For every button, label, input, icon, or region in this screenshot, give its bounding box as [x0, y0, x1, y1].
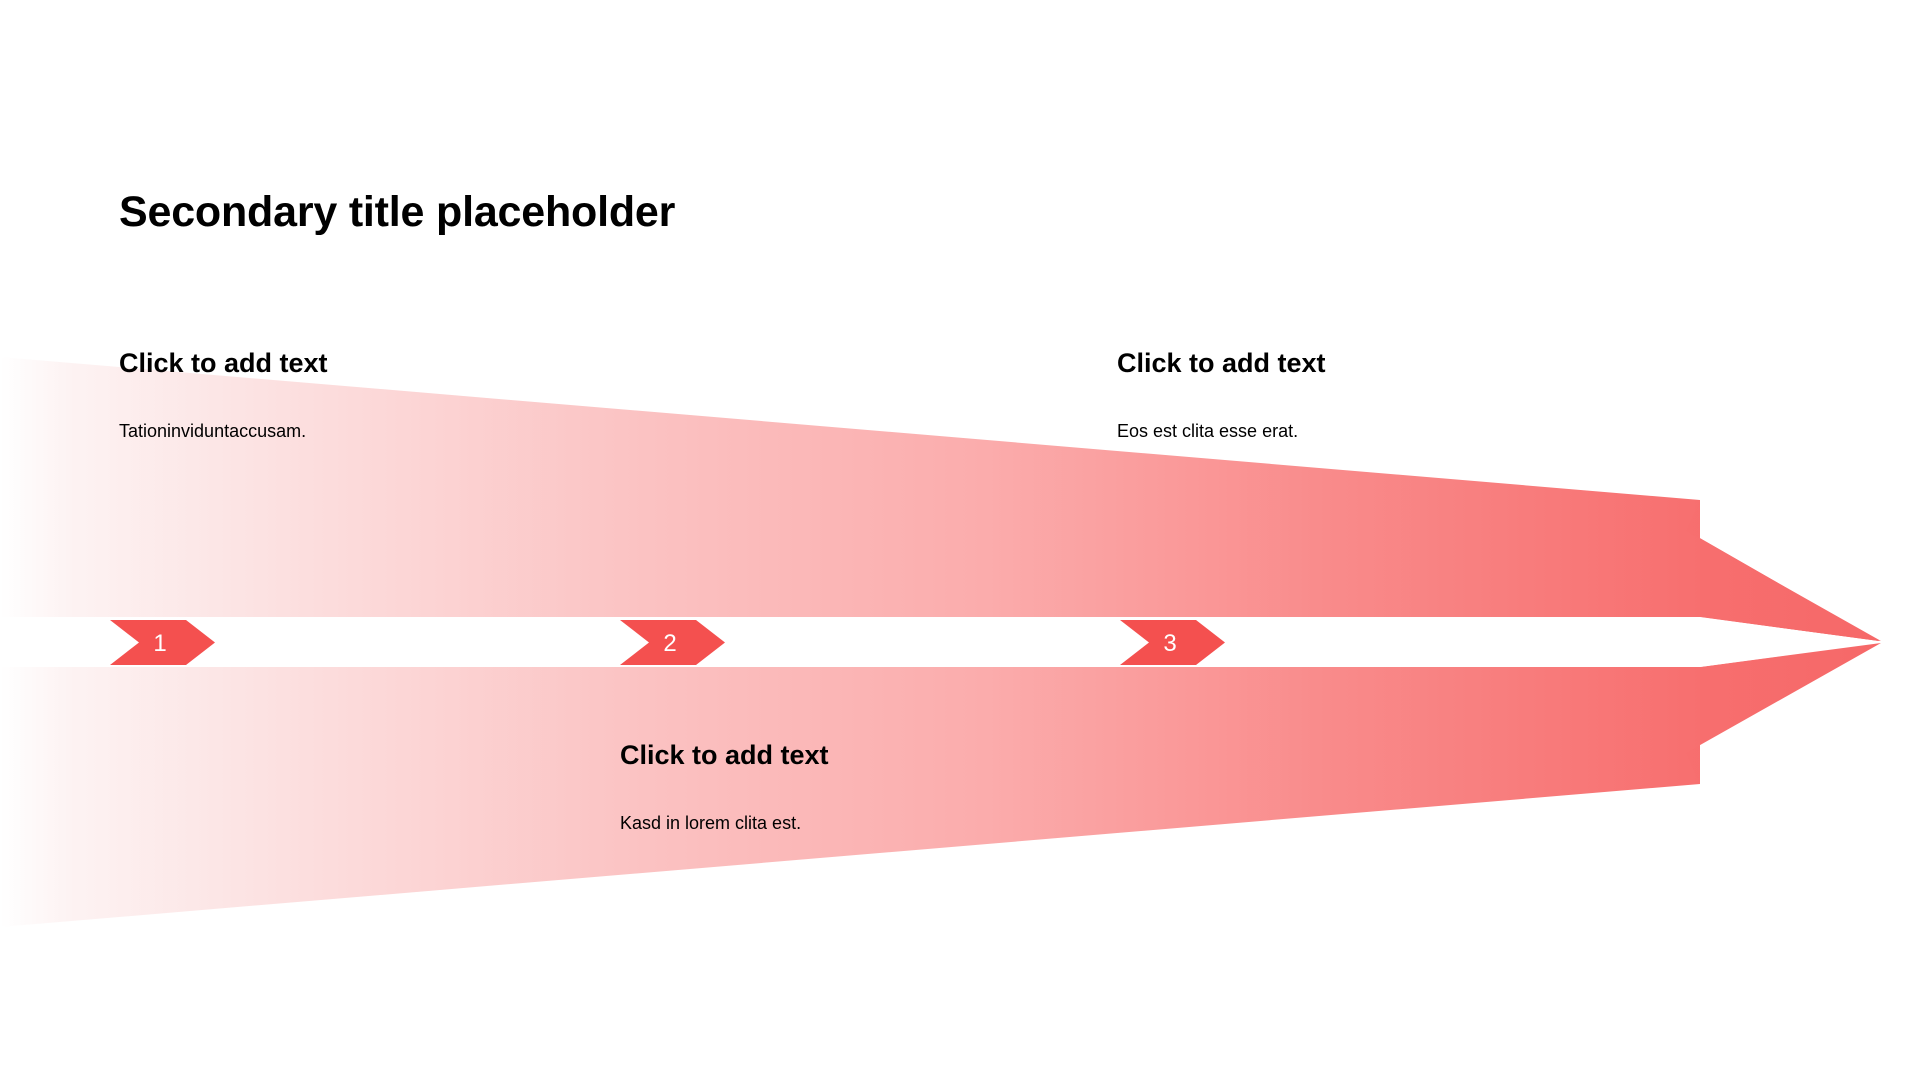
callout-top-right: Click to add text Eos est clita esse era…: [1117, 348, 1326, 443]
callout-top-left-body[interactable]: Tationinviduntaccusam.: [119, 420, 328, 443]
callout-top-left: Click to add text Tationinviduntaccusam.: [119, 348, 328, 443]
callout-bottom-center-body[interactable]: Kasd in lorem clita est.: [620, 812, 829, 835]
arrowhead-upper-barb: [1691, 500, 1879, 641]
step-number-3-label: 3: [1140, 632, 1200, 656]
arrowhead-upper-triangle: [1686, 500, 1879, 641]
callout-top-right-body[interactable]: Eos est clita esse erat.: [1117, 420, 1326, 443]
page-title: Secondary title placeholder: [119, 189, 675, 236]
callout-top-right-heading[interactable]: Click to add text: [1117, 348, 1326, 379]
arrowhead-lower: [1686, 643, 1881, 784]
callout-bottom-center: Click to add text Kasd in lorem clita es…: [620, 740, 829, 835]
step-number-2-label: 2: [640, 632, 700, 656]
arrowhead-upper: [1686, 500, 1881, 641]
center-white-stripe: [0, 617, 1883, 667]
callout-bottom-center-heading[interactable]: Click to add text: [620, 740, 829, 771]
arrowhead-upper-wing: [1686, 531, 1879, 641]
step-number-1-label: 1: [130, 632, 190, 656]
funnel-band-lower: [0, 667, 1700, 927]
callout-top-left-heading[interactable]: Click to add text: [119, 348, 328, 379]
tapering-arrow-funnel-graphic: [0, 0, 1920, 1080]
slide-canvas: Secondary title placeholder Click to add…: [0, 0, 1920, 1080]
